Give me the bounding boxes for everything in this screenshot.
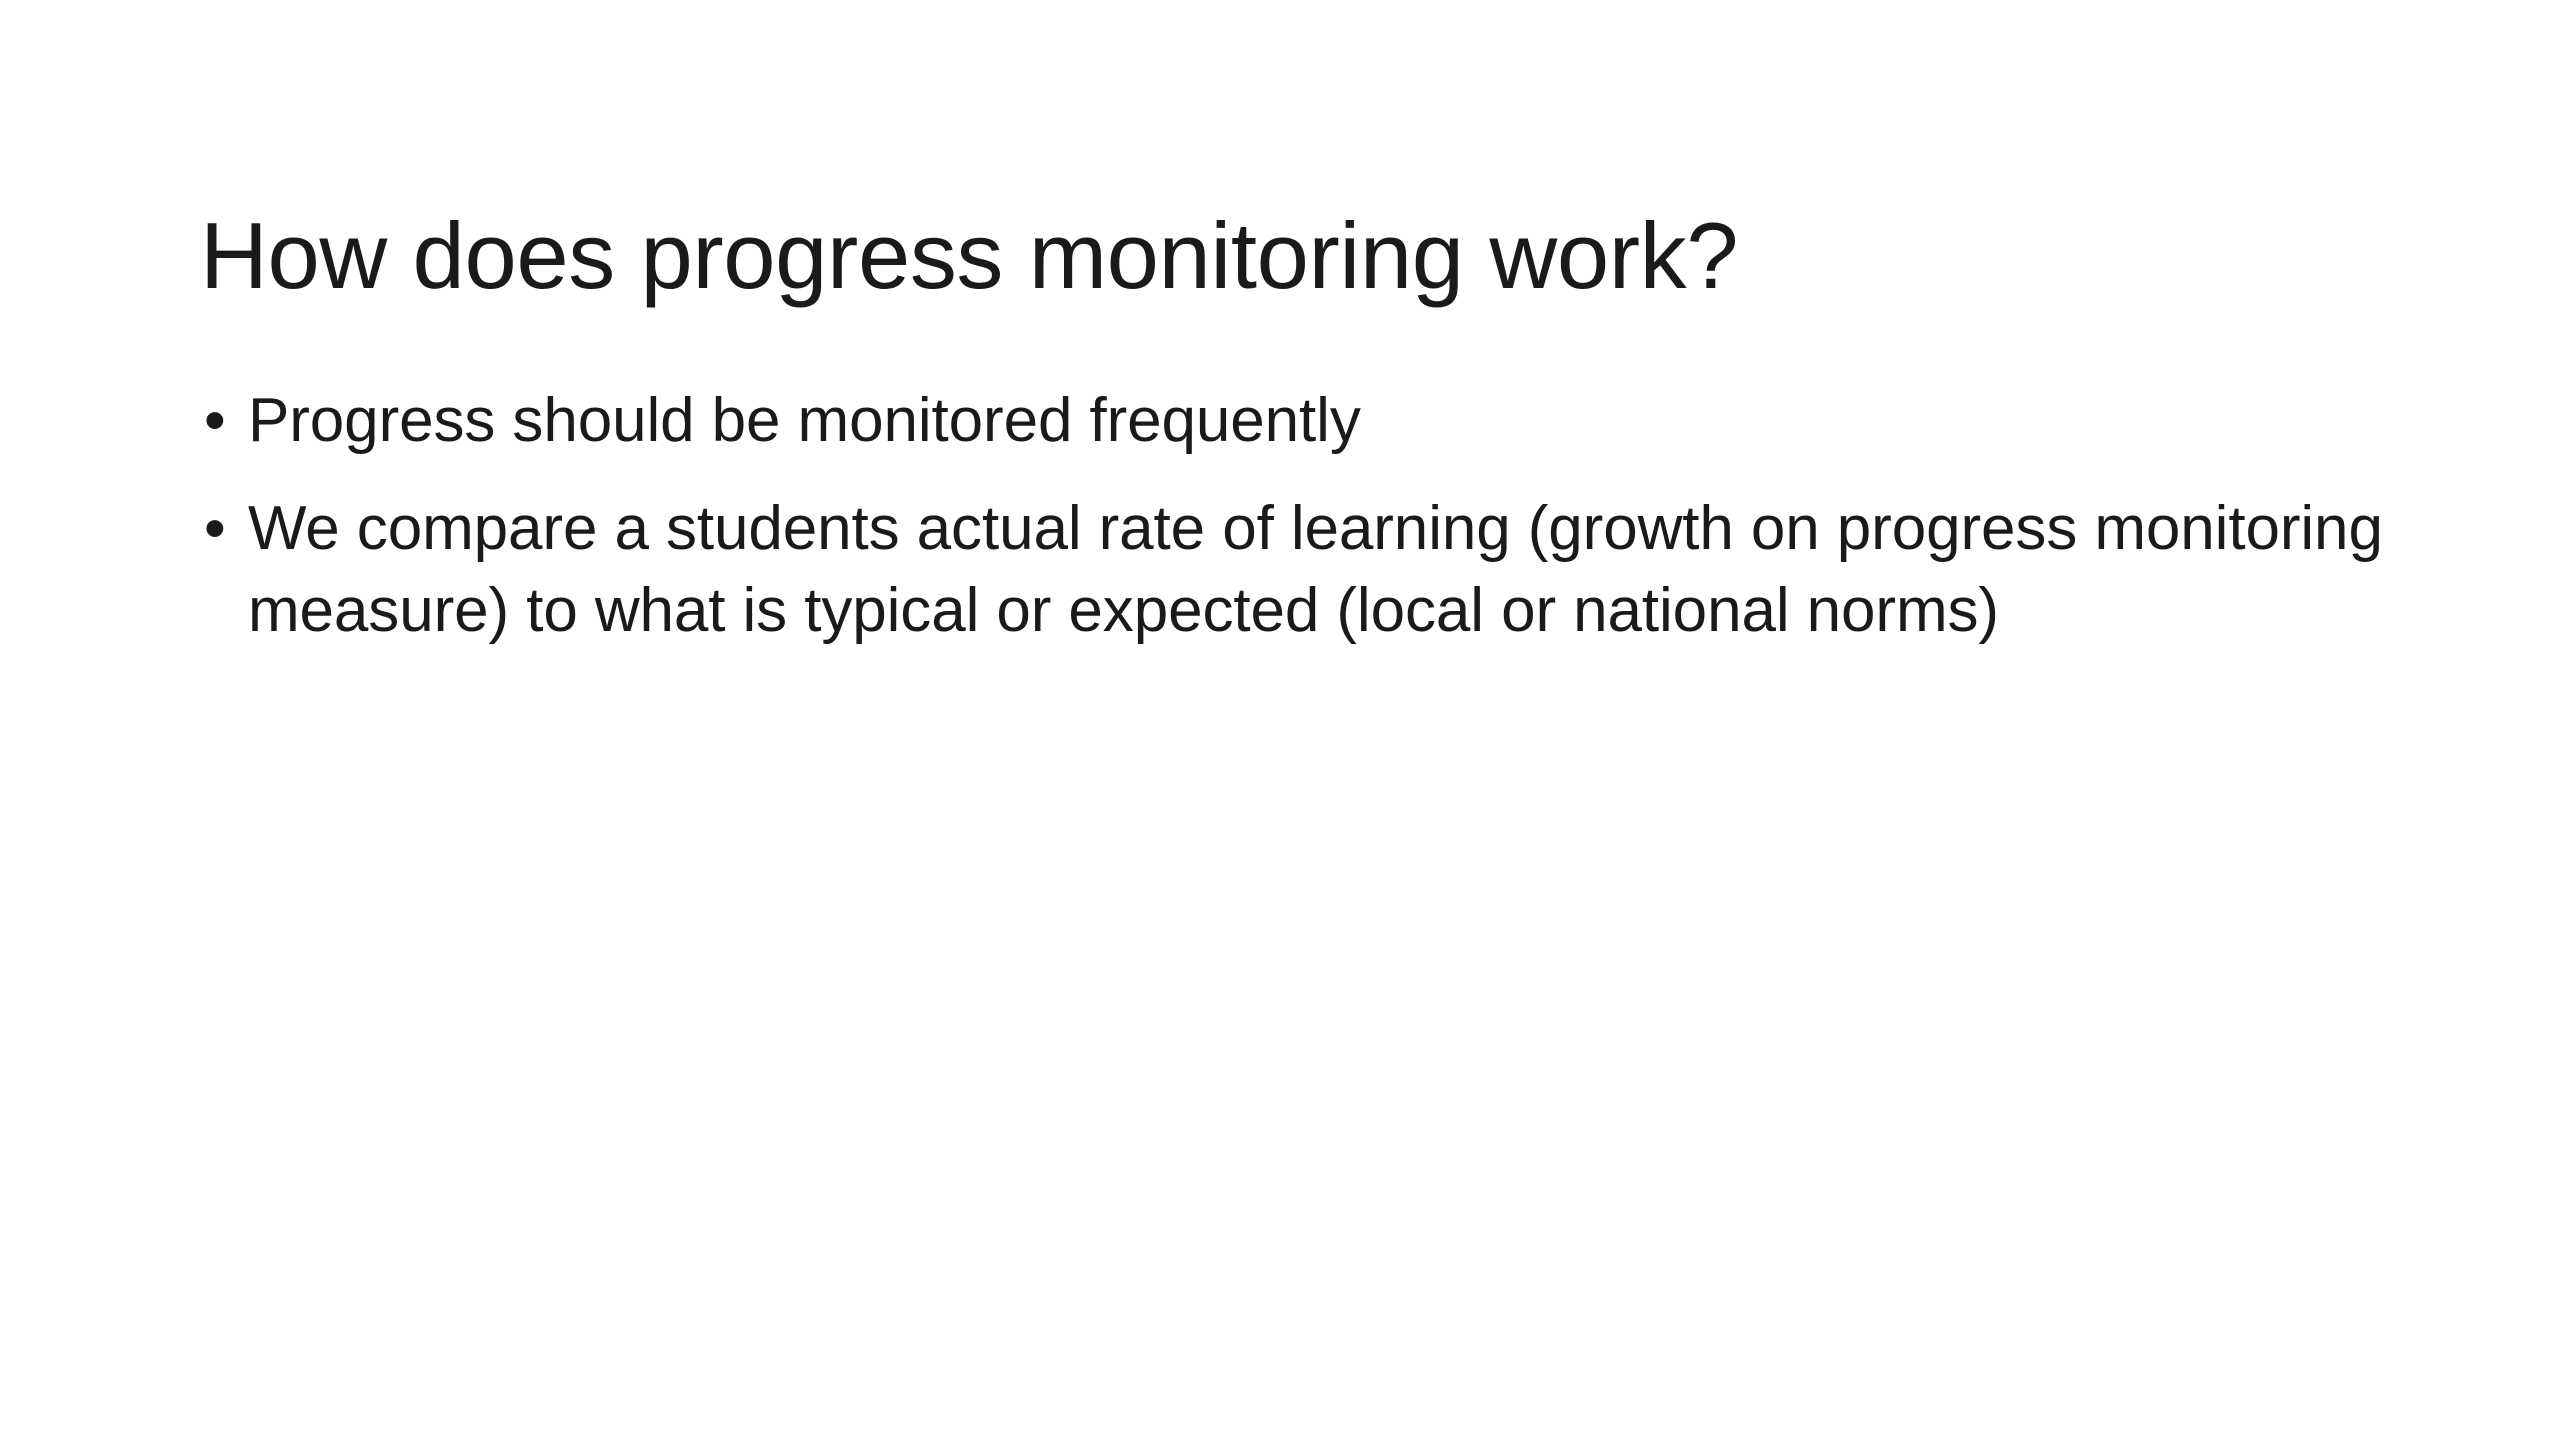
bullet-item-text: We compare a students actual rate of lea…: [248, 488, 2400, 652]
slide-body-placeholder: • Progress should be monitored frequentl…: [200, 380, 2400, 651]
bullet-point-icon: •: [204, 380, 226, 462]
list-item: • We compare a students actual rate of l…: [200, 488, 2400, 652]
list-item: • Progress should be monitored frequentl…: [200, 380, 2400, 462]
bullet-point-icon: •: [204, 488, 226, 570]
bullet-list: • Progress should be monitored frequentl…: [200, 380, 2400, 651]
bullet-item-text: Progress should be monitored frequently: [248, 380, 2400, 462]
presentation-slide: How does progress monitoring work? • Pro…: [0, 0, 2560, 1440]
page-title: How does progress monitoring work?: [200, 203, 2380, 308]
